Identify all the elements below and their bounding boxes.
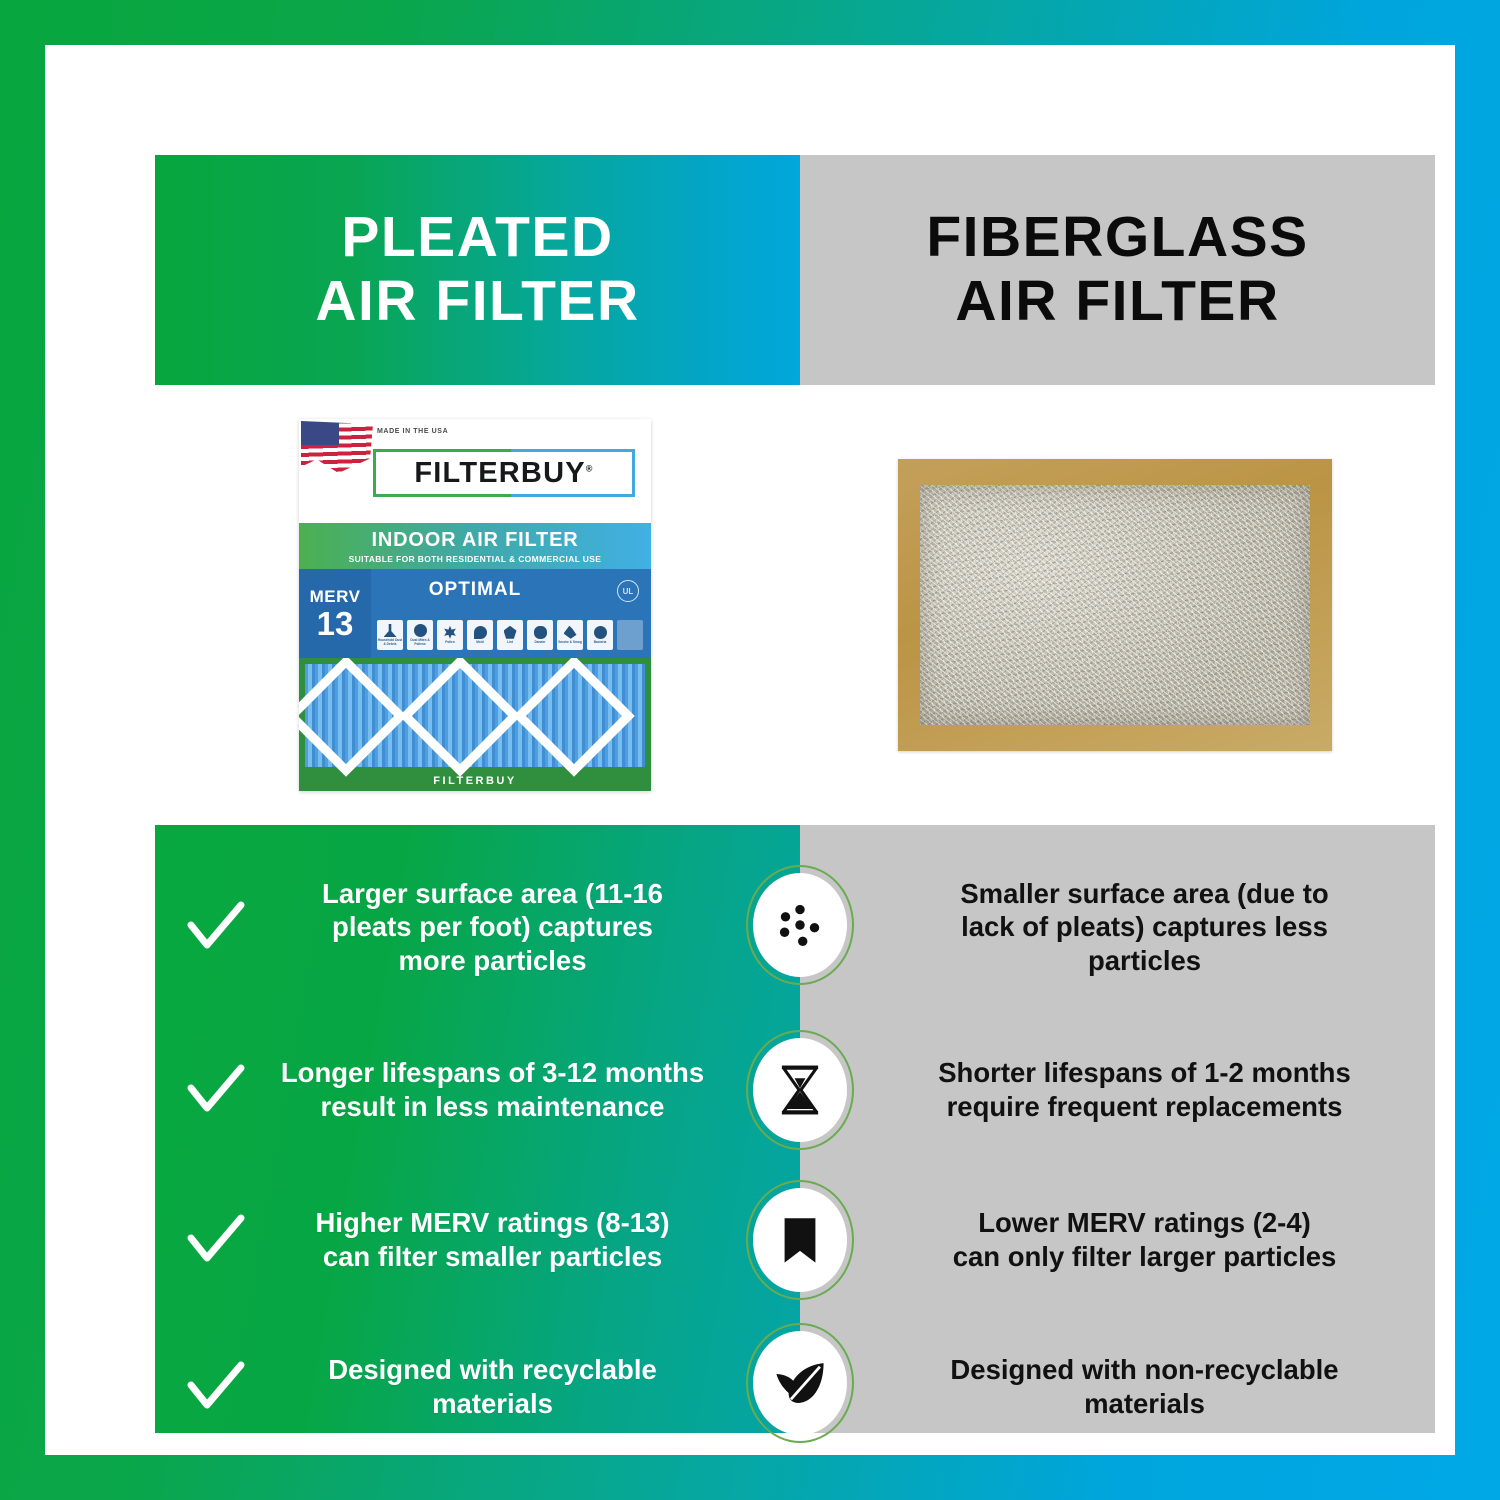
mold-icon-label: Mold [476,641,483,645]
grid-diamond [399,658,521,776]
leaf-icon [746,1323,854,1443]
merv-value: 13 [317,607,354,640]
bookmark-icon-glyph [771,1211,829,1269]
fiberglass-photo-cell [795,385,1435,825]
lint-icon: Lint [497,620,523,650]
header-pleated-title: PLEATED AIR FILTER [315,206,639,334]
pollen-icon-label: Pollen [445,641,455,645]
support-grid [305,664,645,767]
box-band-line2: SUITABLE FOR BOTH RESIDENTIAL & COMMERCI… [349,554,602,564]
row-fiberglass-side: Shorter lifespans of 1-2 months require … [800,1056,1435,1123]
comparison-header: PLEATED AIR FILTER FIBERGLASS AIR FILTER [155,155,1435,385]
header-fiberglass: FIBERGLASS AIR FILTER [800,155,1435,385]
particles-icon [746,865,854,985]
bacteria-icon-label: Bacteria [594,641,607,645]
smoke-icon: Smoke & Smog [557,620,583,650]
row-pleated-side: Longer lifespans of 3-12 months result i… [155,1056,800,1123]
check-icon [183,1058,247,1122]
filterbuy-logo-frame: FILTERBUY® [373,449,635,497]
dander-icon-label: Dander [535,641,546,645]
row-pleated-text: Designed with recyclable materials [251,1353,800,1420]
merv-badge: MERV 13 [299,569,371,658]
grid-diamond [513,658,635,776]
box-band-line1: INDOOR AIR FILTER [372,529,579,552]
row-fiberglass-text: Smaller surface area (due to lack of ple… [878,877,1435,978]
header-fiberglass-title: FIBERGLASS AIR FILTER [926,206,1308,334]
ul-certification-icon: UL [611,575,645,607]
fiberglass-mesh [920,485,1310,725]
pollen-icon: Pollen [437,620,463,650]
white-matte: PLEATED AIR FILTER FIBERGLASS AIR FILTER… [45,45,1455,1455]
row-pleated-text: Larger surface area (11-16 pleats per fo… [251,877,800,978]
row-fiberglass-side: Smaller surface area (due to lack of ple… [800,877,1435,978]
comparison-panel: Larger surface area (11-16 pleats per fo… [155,825,1435,1433]
particles-icon-glyph [771,896,829,954]
row-pleated-side: Higher MERV ratings (8-13) can filter sm… [155,1206,800,1273]
row-fiberglass-text: Designed with non-recyclable materials [878,1353,1435,1420]
dust-mite-icon: Dust Mites & Pollens [407,620,433,650]
mold-icon: Mold [467,620,493,650]
filterbuy-box-image: MADE IN THE USA FILTERBUY® INDOOR AIR FI… [299,419,651,791]
made-in-usa-label: MADE IN THE USA [377,427,448,436]
hourglass-icon [746,1030,854,1150]
dust-mite-icon-label: Dust Mites & Pollens [407,639,433,646]
smoke-icon-label: Smoke & Smog [558,641,581,645]
extra-icon [617,620,643,650]
filterbuy-logo-text: FILTERBUY® [414,457,593,490]
row-pleated-text: Higher MERV ratings (8-13) can filter sm… [251,1206,800,1273]
hourglass-icon-glyph [771,1061,829,1119]
row-fiberglass-text: Lower MERV ratings (2-4) can only filter… [878,1206,1435,1273]
check-icon [183,1208,247,1272]
box-indoor-band: INDOOR AIR FILTER SUITABLE FOR BOTH RESI… [299,523,651,569]
fiberglass-filter-image [898,459,1332,751]
row-fiberglass-side: Lower MERV ratings (2-4) can only filter… [800,1206,1435,1273]
tier-label: OPTIMAL [371,569,579,611]
dander-icon: Dander [527,620,553,650]
row-pleated-side: Larger surface area (11-16 pleats per fo… [155,877,800,978]
row-fiberglass-side: Designed with non-recyclable materials [800,1353,1435,1420]
dust-icon: Household Dust & Debris [377,620,403,650]
box-bottom-brand: FILTERBUY [299,775,651,787]
row-pleated-side: Designed with recyclable materials [155,1353,800,1420]
outer-gradient-frame: PLEATED AIR FILTER FIBERGLASS AIR FILTER… [0,0,1500,1500]
dust-icon-label: Household Dust & Debris [377,639,403,646]
capture-icon-strip: Household Dust & Debris Dust Mites & Pol… [371,612,651,658]
comparison-rows: Larger surface area (11-16 pleats per fo… [155,825,1435,1433]
check-icon [183,895,247,959]
lint-icon-label: Lint [507,641,513,645]
leaf-icon-glyph [771,1354,829,1412]
pleated-media-area: FILTERBUY [299,658,651,791]
row-pleated-text: Longer lifespans of 3-12 months result i… [251,1056,800,1123]
infographic-canvas: PLEATED AIR FILTER FIBERGLASS AIR FILTER… [155,155,1435,1433]
bacteria-icon: Bacteria [587,620,613,650]
product-photo-band: MADE IN THE USA FILTERBUY® INDOOR AIR FI… [155,385,1435,825]
merv-label: MERV [310,587,361,607]
row-fiberglass-text: Shorter lifespans of 1-2 months require … [878,1056,1435,1123]
check-icon [183,1355,247,1419]
pleated-photo-cell: MADE IN THE USA FILTERBUY® INDOOR AIR FI… [155,385,795,825]
grid-diamond [299,658,407,776]
ul-mark: UL [617,580,639,602]
header-pleated: PLEATED AIR FILTER [155,155,800,385]
bookmark-icon [746,1180,854,1300]
box-spec-band: MERV 13 OPTIMAL UL Household Dust & Debr… [299,569,651,658]
